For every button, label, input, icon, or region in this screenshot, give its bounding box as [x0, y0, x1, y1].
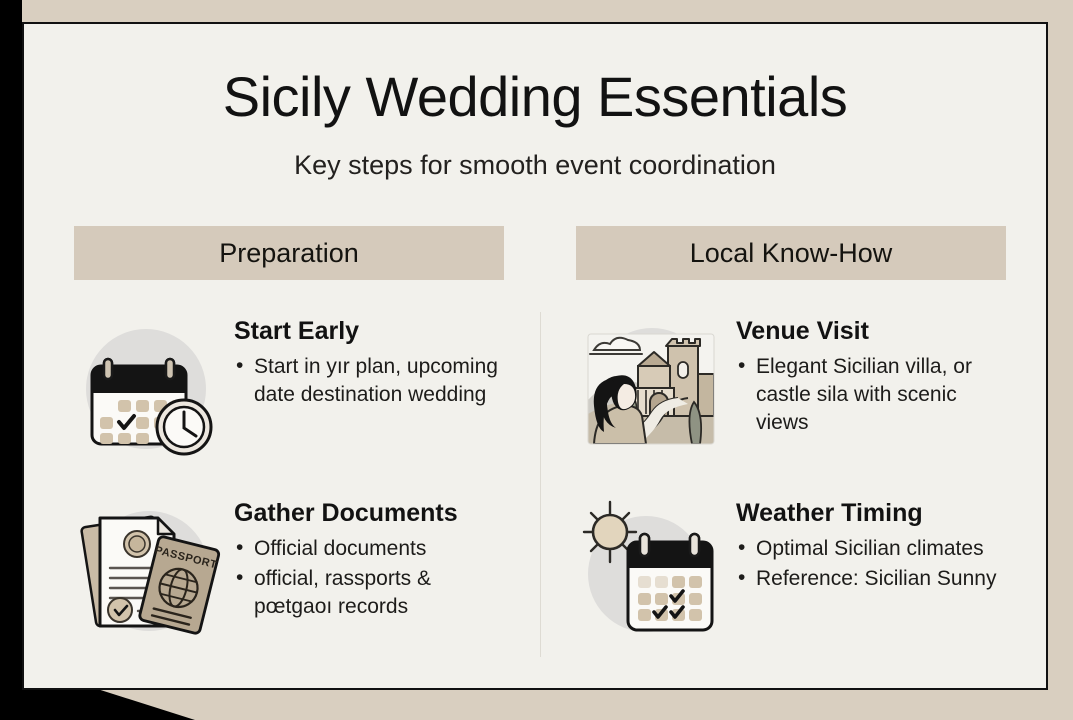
list-item-bullet: Official documents	[234, 535, 504, 563]
column-heading-label: Local Know-How	[690, 238, 893, 269]
column-divider	[540, 312, 541, 657]
item-bullets: Start in yır plan, upcoming date destina…	[234, 353, 504, 409]
list-item-bullet: Optimal Sicilian climates	[736, 535, 1004, 563]
item-bullets: Official documents official, rassports &…	[234, 535, 504, 621]
list-item-bullet: Reference: Sicilian Sunny	[736, 565, 1004, 593]
villa-castle-scene-icon	[576, 314, 726, 464]
calendar-clock-icon	[74, 314, 224, 464]
item-text-block: Venue Visit Elegant Sicilian villa, or c…	[726, 314, 1004, 439]
item-text-block: Gather Documents Official documents offi…	[224, 496, 504, 623]
poster-card: Sicily Wedding Essentials Key steps for …	[22, 22, 1048, 690]
column-heading-local-know-how: Local Know-How	[576, 226, 1006, 280]
list-item: Weather Timing Optimal Sicilian climates…	[576, 496, 1004, 646]
page-subtitle: Key steps for smooth event coordination	[24, 150, 1046, 181]
item-title: Weather Timing	[736, 500, 1004, 528]
item-bullets: Optimal Sicilian climates Reference: Sic…	[736, 535, 1004, 593]
infographic-poster: Sicily Wedding Essentials Key steps for …	[0, 0, 1073, 720]
item-text-block: Weather Timing Optimal Sicilian climates…	[726, 496, 1004, 595]
page-title: Sicily Wedding Essentials	[24, 64, 1046, 129]
list-item: PASSPORT Gather Documents Official docum…	[74, 496, 504, 646]
sun-calendar-icon	[576, 496, 726, 646]
documents-passport-icon: PASSPORT	[74, 496, 224, 646]
item-title: Start Early	[234, 318, 504, 346]
column-heading-preparation: Preparation	[74, 226, 504, 280]
item-title: Gather Documents	[234, 500, 504, 528]
item-text-block: Start Early Start in yır plan, upcoming …	[224, 314, 504, 411]
list-item-bullet: Start in yır plan, upcoming date destina…	[234, 353, 504, 409]
column-heading-label: Preparation	[219, 238, 359, 269]
list-item-bullet: Elegant Sicilian villa, or castle sila w…	[736, 353, 1004, 437]
list-item-bullet: official, rassports & pœtgaoı records	[234, 565, 504, 621]
left-black-edge	[0, 0, 22, 720]
list-item: Start Early Start in yır plan, upcoming …	[74, 314, 504, 464]
item-title: Venue Visit	[736, 318, 1004, 346]
list-item: Venue Visit Elegant Sicilian villa, or c…	[576, 314, 1004, 464]
item-bullets: Elegant Sicilian villa, or castle sila w…	[736, 353, 1004, 437]
